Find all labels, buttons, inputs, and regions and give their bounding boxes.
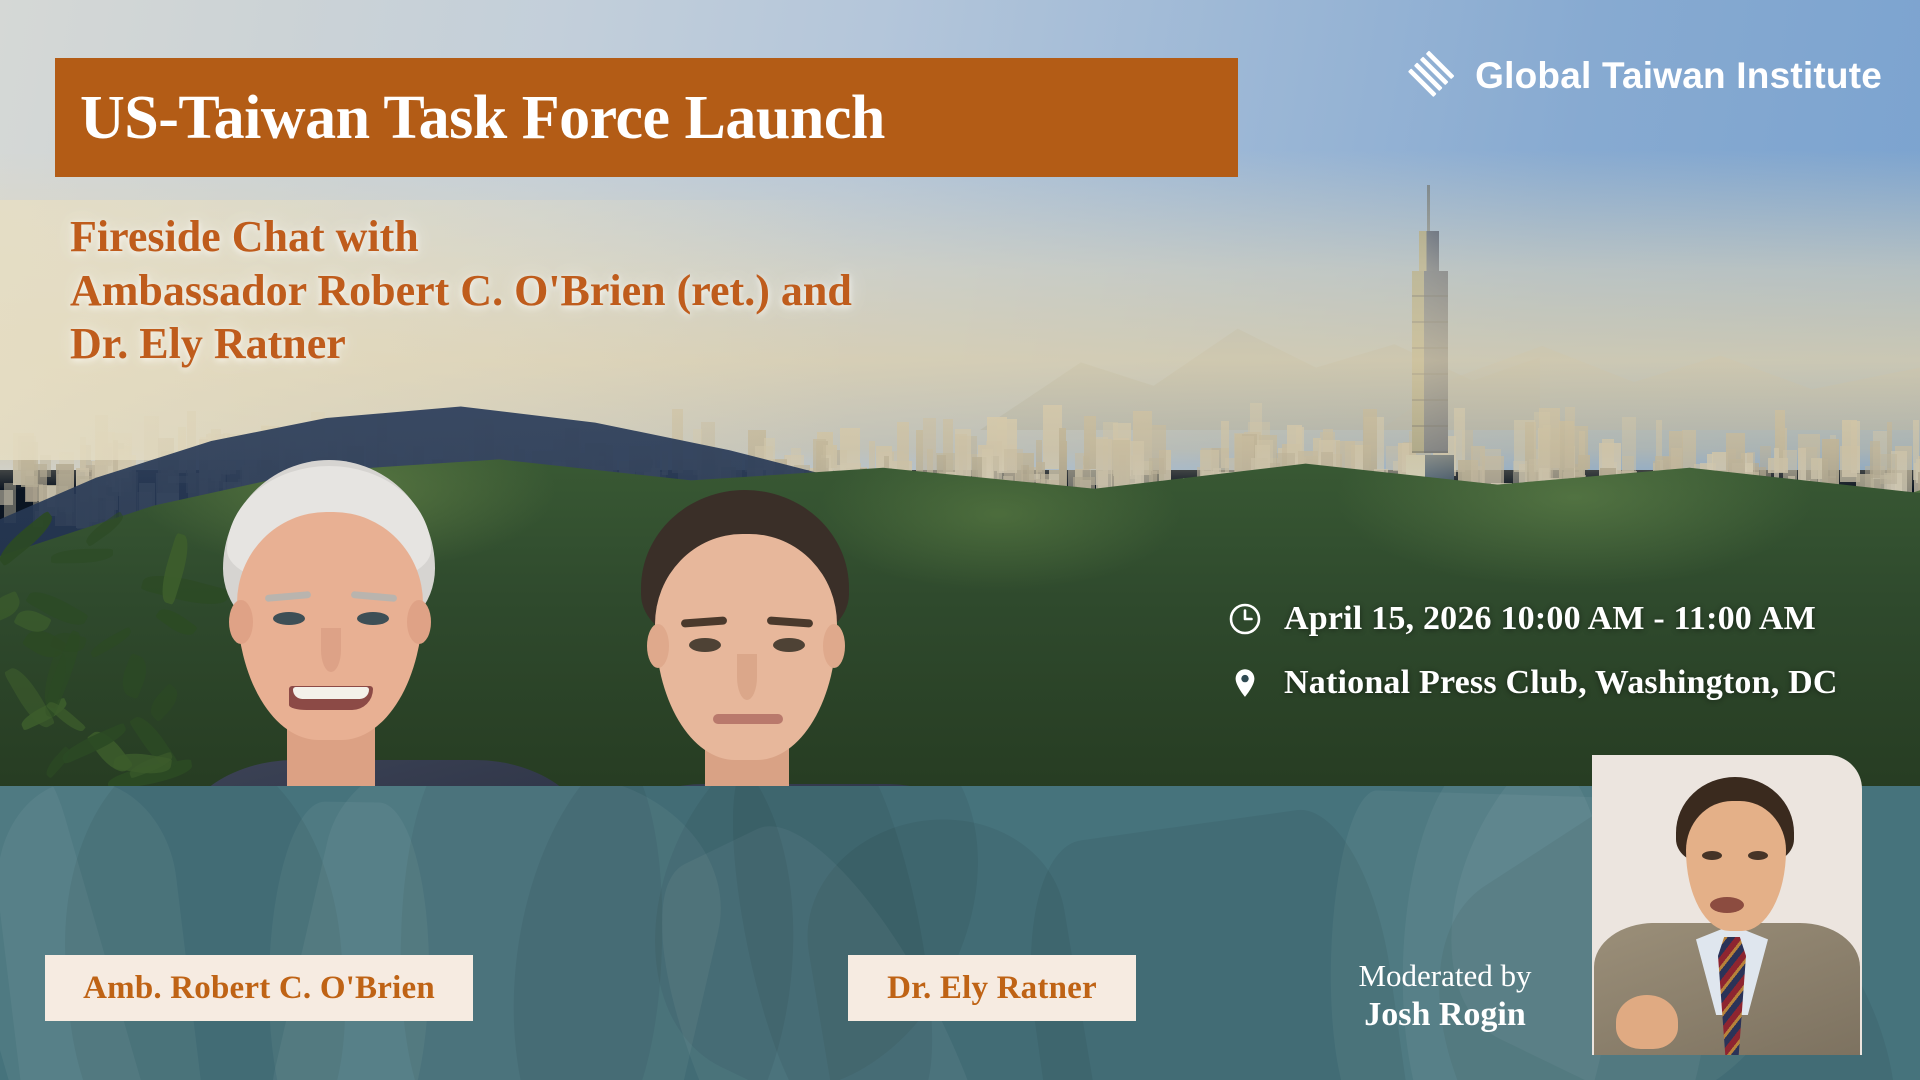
organization-logo: Global Taiwan Institute [1401, 48, 1882, 104]
ear-right [823, 624, 845, 668]
plant-leaf [117, 653, 153, 700]
eye-left [689, 638, 721, 652]
event-location-row: National Press Club, Washington, DC [1228, 664, 1838, 702]
city-building [0, 490, 13, 505]
moderator-photo [1592, 755, 1862, 1055]
moderated-by-label: Moderated by [1300, 958, 1590, 995]
nose [737, 654, 757, 700]
event-datetime-row: April 15, 2026 10:00 AM - 11:00 AM [1228, 600, 1838, 638]
subtitle-line-3: Dr. Ely Ratner [70, 317, 852, 371]
moderator-mouth [1710, 897, 1744, 913]
clock-icon [1228, 602, 1262, 636]
moderator-credit: Moderated by Josh Rogin [1300, 958, 1590, 1035]
eye-right [773, 638, 805, 652]
subtitle-line-1: Fireside Chat with [70, 210, 852, 264]
ear-left [229, 600, 253, 644]
event-datetime: April 15, 2026 10:00 AM - 11:00 AM [1284, 600, 1816, 638]
mouth [713, 714, 783, 724]
event-details: April 15, 2026 10:00 AM - 11:00 AM Natio… [1228, 600, 1838, 728]
speaker-name: Dr. Ely Ratner [887, 970, 1097, 1007]
eye-left [273, 612, 305, 625]
plant-leaf [51, 548, 113, 563]
eye-right [357, 612, 389, 625]
title-banner: US-Taiwan Task Force Launch [55, 58, 1238, 177]
moderator-eye-left [1702, 851, 1722, 860]
speaker-name: Amb. Robert C. O'Brien [83, 970, 435, 1007]
decorative-wave [1397, 786, 1619, 1080]
diagonal-stripes-diamond-icon [1401, 48, 1457, 104]
speaker-nameplate-ratner: Dr. Ely Ratner [848, 955, 1136, 1021]
page-title: US-Taiwan Task Force Launch [55, 87, 885, 149]
subtitle-line-2: Ambassador Robert C. O'Brien (ret.) and [70, 264, 852, 318]
organization-name: Global Taiwan Institute [1475, 55, 1882, 97]
speaker-nameplate-obrien: Amb. Robert C. O'Brien [45, 955, 473, 1021]
moderator-name: Josh Rogin [1300, 995, 1590, 1035]
ear-left [647, 624, 669, 668]
moderator-hand [1616, 995, 1678, 1049]
event-promo-poster: US-Taiwan Task Force Launch Fireside Cha… [0, 0, 1920, 1080]
nose [321, 628, 341, 672]
teeth [293, 687, 369, 699]
event-location: National Press Club, Washington, DC [1284, 664, 1838, 702]
event-subtitle: Fireside Chat with Ambassador Robert C. … [70, 210, 852, 371]
plant-leaf [88, 627, 133, 658]
moderator-eye-right [1748, 851, 1768, 860]
face [655, 534, 837, 760]
location-pin-icon [1228, 666, 1262, 700]
ear-right [407, 600, 431, 644]
